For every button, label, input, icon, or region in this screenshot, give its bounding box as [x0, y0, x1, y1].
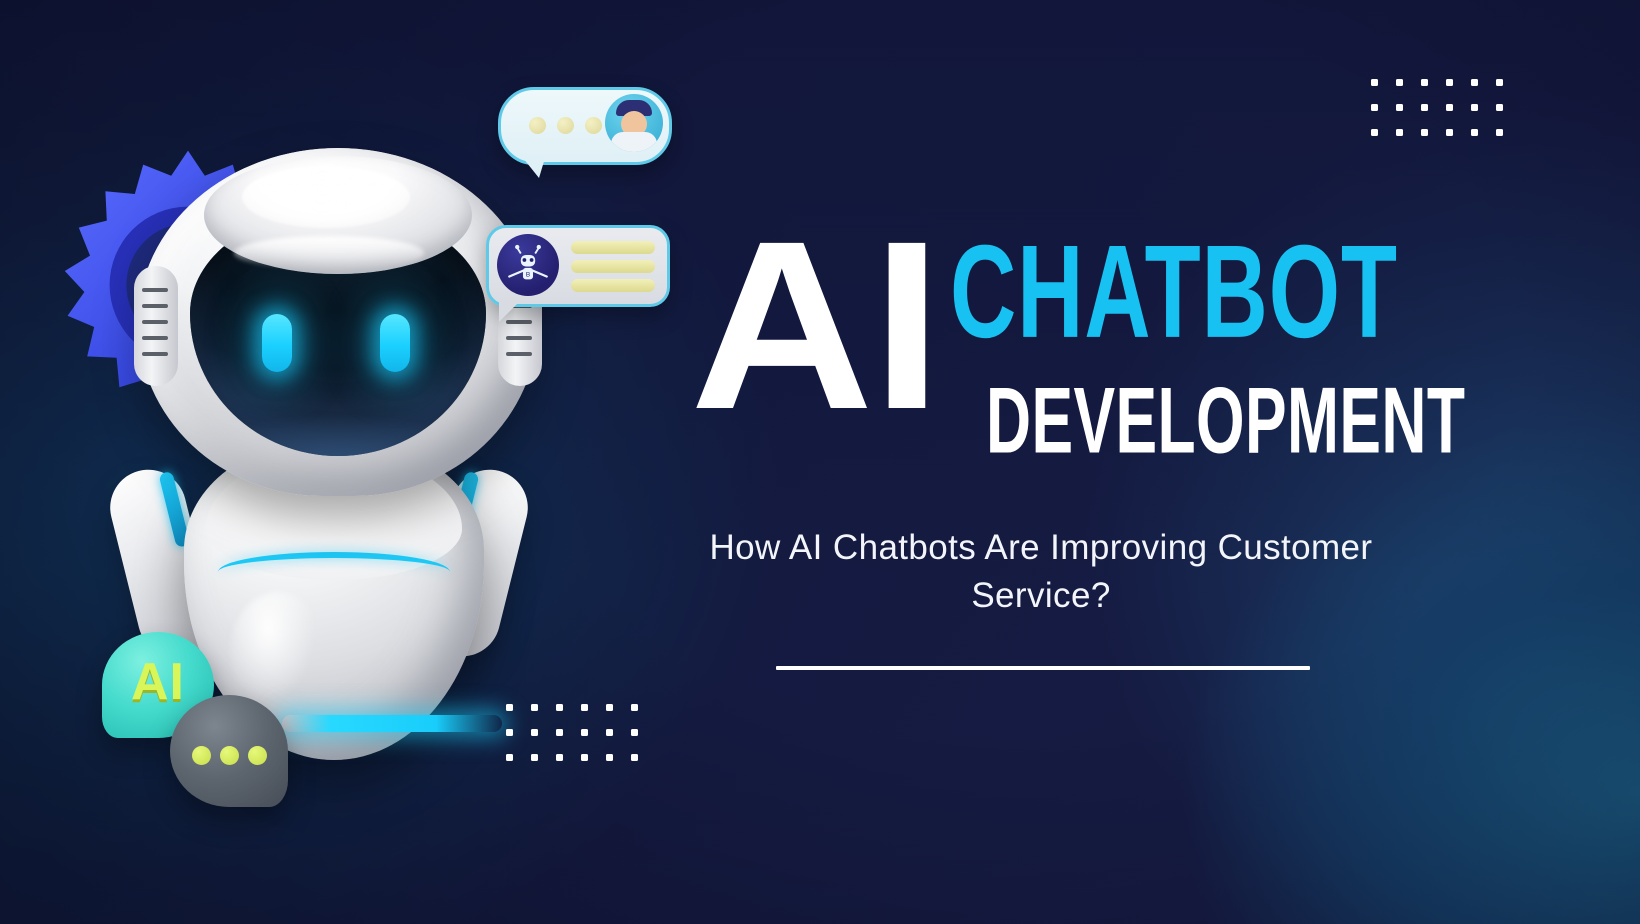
- typing-chat-bubble[interactable]: [170, 695, 288, 807]
- ear-vent: [142, 352, 168, 356]
- ear-vent: [142, 336, 168, 340]
- headline-block: AI CHATBOT DEVELOPMENT: [690, 222, 1390, 459]
- robot-right-eye: [380, 314, 410, 372]
- grid-dot: [1471, 129, 1478, 136]
- visor-inner-glow: [190, 390, 486, 456]
- bot-chat-bubble[interactable]: B: [486, 225, 670, 307]
- grid-dot: [1396, 104, 1403, 111]
- typing-dot: [192, 746, 211, 765]
- grid-dot: [1496, 79, 1503, 86]
- grid-dot: [556, 754, 563, 761]
- grid-dot: [1396, 79, 1403, 86]
- grid-dot: [531, 754, 538, 761]
- typing-dot: [220, 746, 239, 765]
- typing-dot: [529, 117, 546, 134]
- grid-dot: [1421, 104, 1428, 111]
- grid-dot: [631, 754, 638, 761]
- message-line: [571, 241, 655, 254]
- headline-secondary-group: CHATBOT DEVELOPMENT: [950, 222, 1585, 459]
- grid-dot: [1471, 79, 1478, 86]
- bubble-tail: [523, 158, 545, 178]
- grid-dot: [506, 729, 513, 736]
- robot-left-eye: [262, 314, 292, 372]
- grid-dot: [606, 704, 613, 711]
- grid-dot: [1496, 104, 1503, 111]
- user-chat-bubble[interactable]: [498, 87, 672, 165]
- grid-dot: [1446, 129, 1453, 136]
- headline-development: DEVELOPMENT: [986, 373, 1465, 467]
- grid-dot: [581, 729, 588, 736]
- grid-dot: [1446, 104, 1453, 111]
- grid-dot: [1371, 129, 1378, 136]
- grid-dot: [506, 704, 513, 711]
- ai-chatbot-banner: B AI AI CHATBOT DE: [0, 0, 1640, 924]
- subtitle-text: How AI Chatbots Are Improving Customer S…: [688, 524, 1394, 621]
- grid-dot: [1371, 79, 1378, 86]
- grid-dot: [1396, 129, 1403, 136]
- message-line: [571, 260, 655, 273]
- grid-dot: [1471, 104, 1478, 111]
- grid-dot: [581, 754, 588, 761]
- ear-vent: [142, 304, 168, 308]
- robot-avatar-icon: B: [497, 234, 559, 296]
- bubble-tail: [499, 300, 521, 322]
- cyan-light-streak: [282, 715, 502, 732]
- grid-dot: [556, 729, 563, 736]
- avatar-shirt: [611, 132, 657, 152]
- dot-grid-bottom-left: [506, 704, 656, 779]
- ai-bubble-label: AI: [131, 652, 185, 712]
- grid-dot: [631, 704, 638, 711]
- robot-head-highlight-secondary: [234, 236, 424, 270]
- grid-dot: [581, 704, 588, 711]
- grid-dot: [1371, 104, 1378, 111]
- grid-dot: [1446, 79, 1453, 86]
- grid-dot: [1496, 129, 1503, 136]
- grid-dot: [606, 729, 613, 736]
- ear-vent: [506, 336, 532, 340]
- divider-rule: [776, 666, 1310, 670]
- ear-vent: [142, 288, 168, 292]
- grid-dot: [1421, 79, 1428, 86]
- svg-text:B: B: [526, 272, 530, 279]
- grid-dot: [606, 754, 613, 761]
- headline-chatbot: CHATBOT: [950, 231, 1398, 353]
- headline-primary: AI: [690, 222, 940, 428]
- robot-body-highlight: [230, 592, 326, 712]
- dot-grid-top-right: [1371, 79, 1521, 154]
- grid-dot: [1421, 129, 1428, 136]
- ear-vent: [142, 320, 168, 324]
- avatar: [605, 94, 663, 152]
- grid-dot: [631, 729, 638, 736]
- grid-dot: [531, 729, 538, 736]
- ear-vent: [506, 352, 532, 356]
- typing-dot: [557, 117, 574, 134]
- message-line: [571, 279, 655, 292]
- robot-head: [138, 148, 538, 496]
- grid-dot: [506, 754, 513, 761]
- robot-collar-light: [218, 552, 450, 592]
- typing-dot: [585, 117, 602, 134]
- robot-left-ear: [134, 266, 178, 386]
- robot-head-highlight: [242, 166, 410, 228]
- headline-row: AI CHATBOT DEVELOPMENT: [690, 222, 1390, 459]
- grid-dot: [531, 704, 538, 711]
- grid-dot: [556, 704, 563, 711]
- typing-dot: [248, 746, 267, 765]
